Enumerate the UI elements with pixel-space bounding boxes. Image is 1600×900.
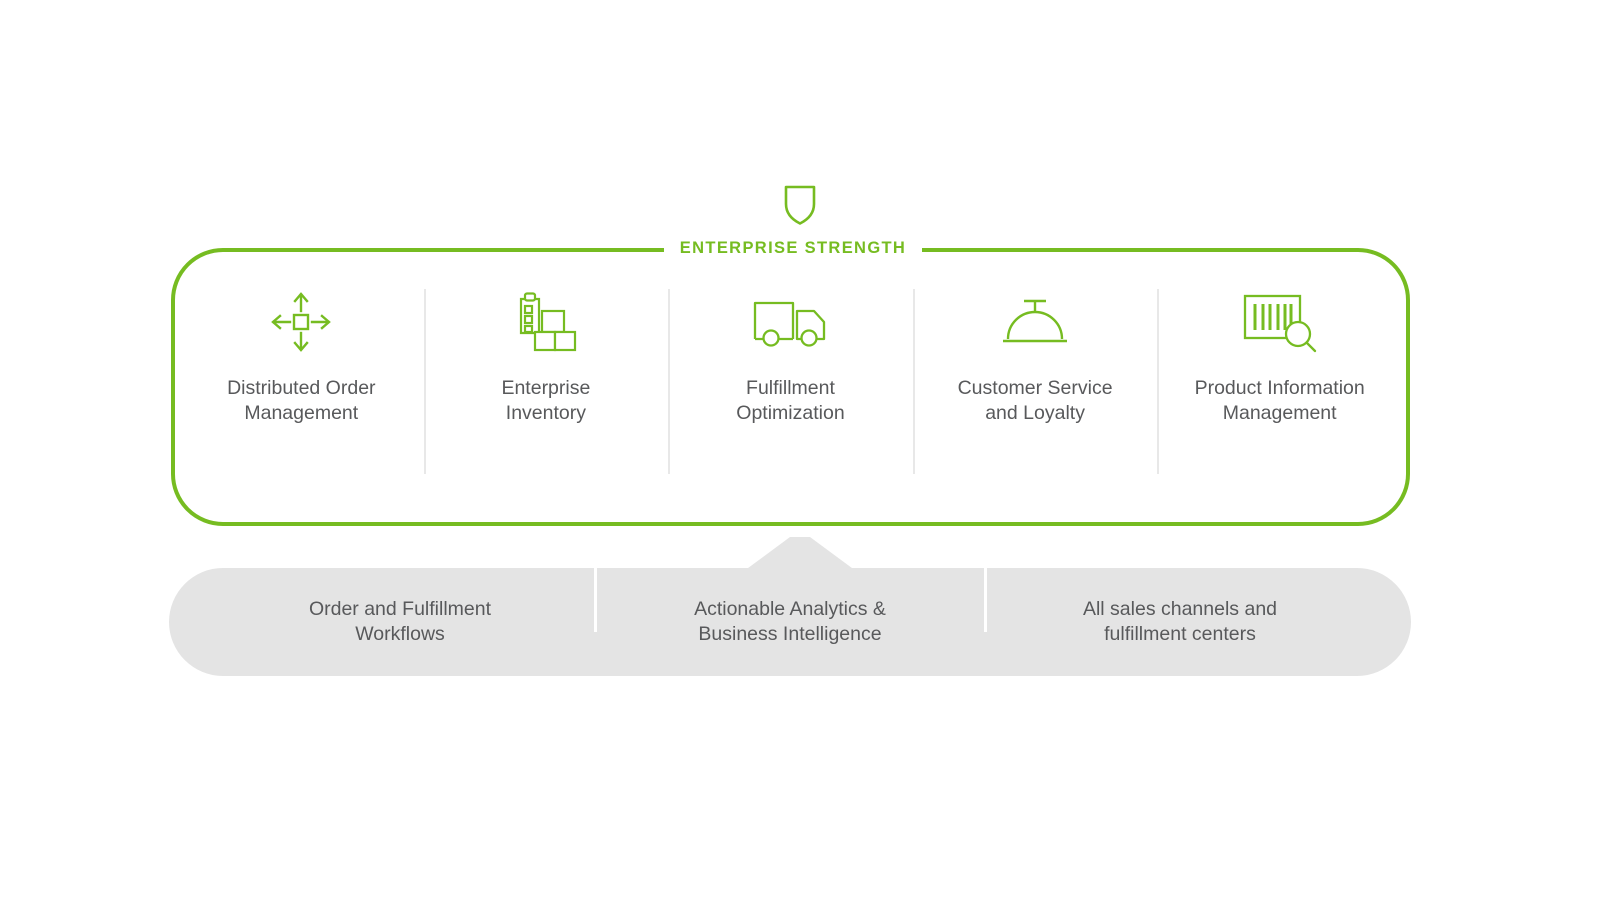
- foundation-item-all-sales-channels-and-fulfillment-centers[interactable]: All sales channels and fulfillment cente…: [985, 597, 1375, 647]
- capability-label: Distributed Order Management: [227, 376, 375, 426]
- diagram-canvas: ENTERPRISE STRENGTH: [0, 0, 1600, 900]
- shield-icon: [783, 184, 817, 226]
- foundation-list: Order and Fulfillment Workflows Actionab…: [169, 568, 1411, 676]
- capability-card-customer-service-and-loyalty[interactable]: Customer Service and Loyalty: [913, 248, 1158, 526]
- capability-label: Fulfillment Optimization: [736, 376, 844, 426]
- barcode-magnifier-icon: [1239, 290, 1321, 354]
- connector-notch: [744, 535, 856, 571]
- capability-card-enterprise-inventory[interactable]: Enterprise Inventory: [424, 248, 669, 526]
- delivery-truck-icon: [749, 290, 831, 354]
- foundation-item-actionable-analytics-business-intelligence[interactable]: Actionable Analytics & Business Intellig…: [595, 597, 985, 647]
- move-arrows-square-icon: [266, 290, 336, 354]
- capability-label: Product Information Management: [1195, 376, 1365, 426]
- clipboard-boxes-inventory-icon: [511, 290, 581, 354]
- capability-card-fulfillment-optimization[interactable]: Fulfillment Optimization: [668, 248, 913, 526]
- capability-label: Customer Service and Loyalty: [958, 376, 1113, 426]
- capability-label: Enterprise Inventory: [501, 376, 590, 426]
- capability-card-distributed-order-management[interactable]: Distributed Order Management: [179, 248, 424, 526]
- service-bell-icon: [995, 290, 1075, 354]
- foundation-item-order-and-fulfillment-workflows[interactable]: Order and Fulfillment Workflows: [205, 597, 595, 647]
- enterprise-strength-badge: [0, 184, 1600, 229]
- capability-list: Distributed Order Management: [171, 248, 1410, 526]
- capability-card-product-information-management[interactable]: Product Information Management: [1157, 248, 1402, 526]
